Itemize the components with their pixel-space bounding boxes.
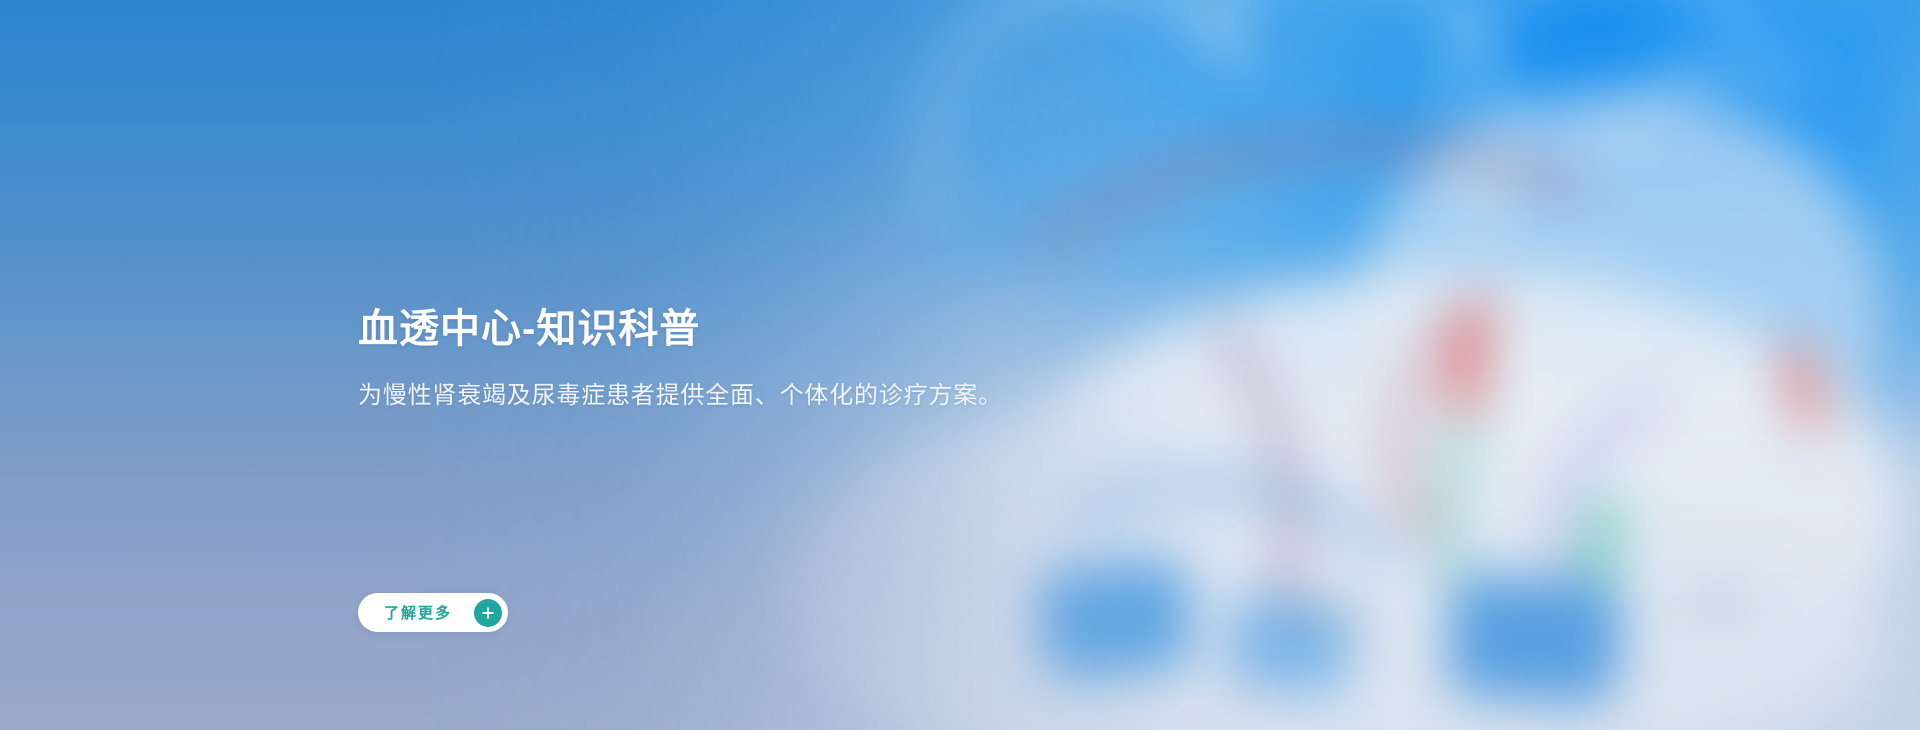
hero-banner: 血透中心-知识科普 为慢性肾衰竭及尿毒症患者提供全面、个体化的诊疗方案。 了解更… — [0, 0, 1920, 730]
page-title: 血透中心-知识科普 — [358, 307, 700, 352]
learn-more-label: 了解更多 — [384, 602, 452, 623]
hero-subtitle: 为慢性肾衰竭及尿毒症患者提供全面、个体化的诊疗方案。 — [358, 379, 1003, 413]
hero-content: 血透中心-知识科普 为慢性肾衰竭及尿毒症患者提供全面、个体化的诊疗方案。 了解更… — [358, 0, 1458, 730]
learn-more-button[interactable]: 了解更多 — [358, 593, 508, 632]
plus-circle-icon — [474, 599, 502, 627]
